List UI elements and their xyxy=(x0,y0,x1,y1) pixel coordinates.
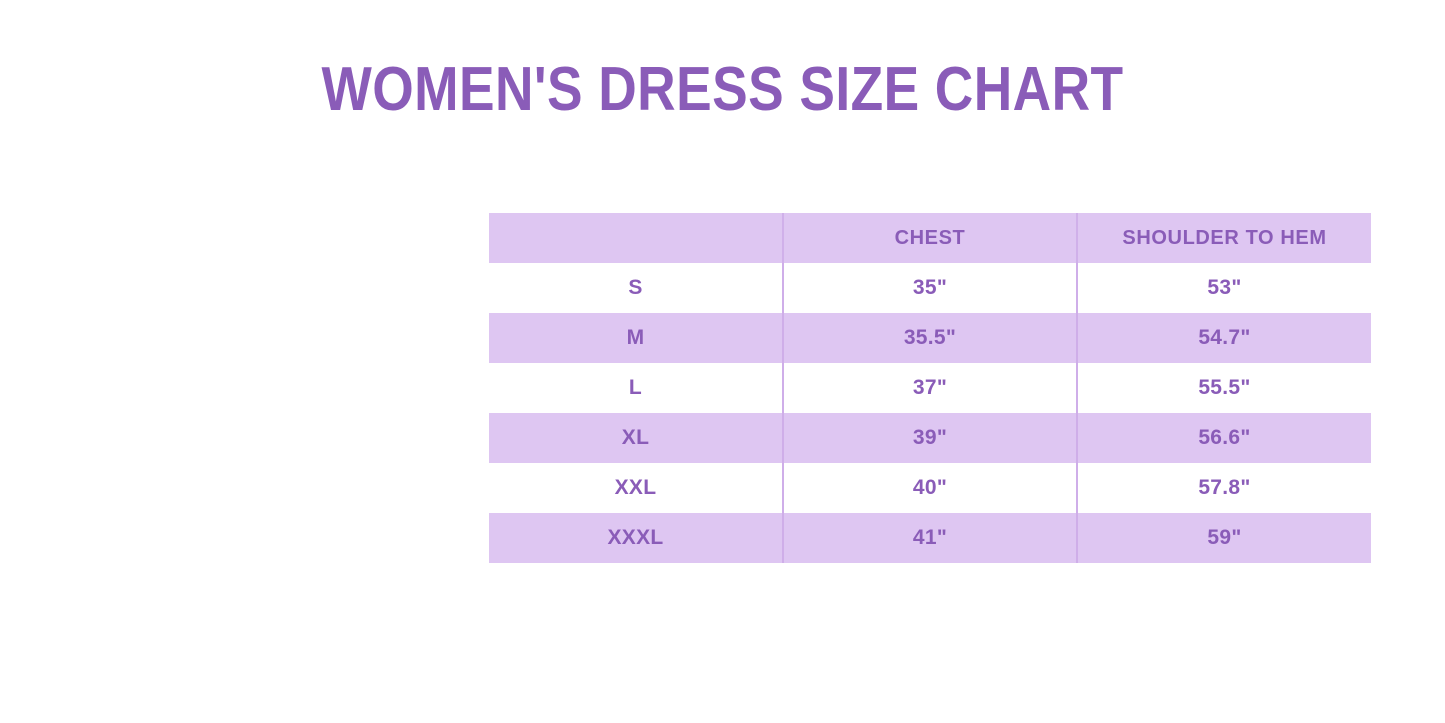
cell-chest: 35.5" xyxy=(783,313,1077,363)
table-body: S 35" 53" M 35.5" 54.7" L 37" 55.5" XL 3… xyxy=(489,263,1371,563)
cell-shoulder-to-hem: 54.7" xyxy=(1077,313,1371,363)
cell-size: S xyxy=(489,263,783,313)
table-header-row: CHEST SHOULDER TO HEM xyxy=(489,213,1371,263)
table-header: CHEST SHOULDER TO HEM xyxy=(489,213,1371,263)
table-row: L 37" 55.5" xyxy=(489,363,1371,413)
cell-shoulder-to-hem: 57.8" xyxy=(1077,463,1371,513)
cell-size: L xyxy=(489,363,783,413)
cell-shoulder-to-hem: 59" xyxy=(1077,513,1371,563)
table-row: M 35.5" 54.7" xyxy=(489,313,1371,363)
table-row: XL 39" 56.6" xyxy=(489,413,1371,463)
cell-shoulder-to-hem: 56.6" xyxy=(1077,413,1371,463)
cell-chest: 41" xyxy=(783,513,1077,563)
size-chart-table-container: CHEST SHOULDER TO HEM S 35" 53" M 35.5" … xyxy=(489,213,1371,563)
page-title: WOMEN'S DRESS SIZE CHART xyxy=(101,52,1344,128)
cell-size: XL xyxy=(489,413,783,463)
column-header-size xyxy=(489,213,783,263)
table-row: XXXL 41" 59" xyxy=(489,513,1371,563)
cell-chest: 37" xyxy=(783,363,1077,413)
table-row: S 35" 53" xyxy=(489,263,1371,313)
cell-chest: 39" xyxy=(783,413,1077,463)
column-header-chest: CHEST xyxy=(783,213,1077,263)
cell-shoulder-to-hem: 55.5" xyxy=(1077,363,1371,413)
cell-size: XXL xyxy=(489,463,783,513)
size-chart-table: CHEST SHOULDER TO HEM S 35" 53" M 35.5" … xyxy=(489,213,1371,563)
cell-size: M xyxy=(489,313,783,363)
column-header-shoulder-to-hem: SHOULDER TO HEM xyxy=(1077,213,1371,263)
cell-shoulder-to-hem: 53" xyxy=(1077,263,1371,313)
table-row: XXL 40" 57.8" xyxy=(489,463,1371,513)
cell-size: XXXL xyxy=(489,513,783,563)
cell-chest: 35" xyxy=(783,263,1077,313)
cell-chest: 40" xyxy=(783,463,1077,513)
